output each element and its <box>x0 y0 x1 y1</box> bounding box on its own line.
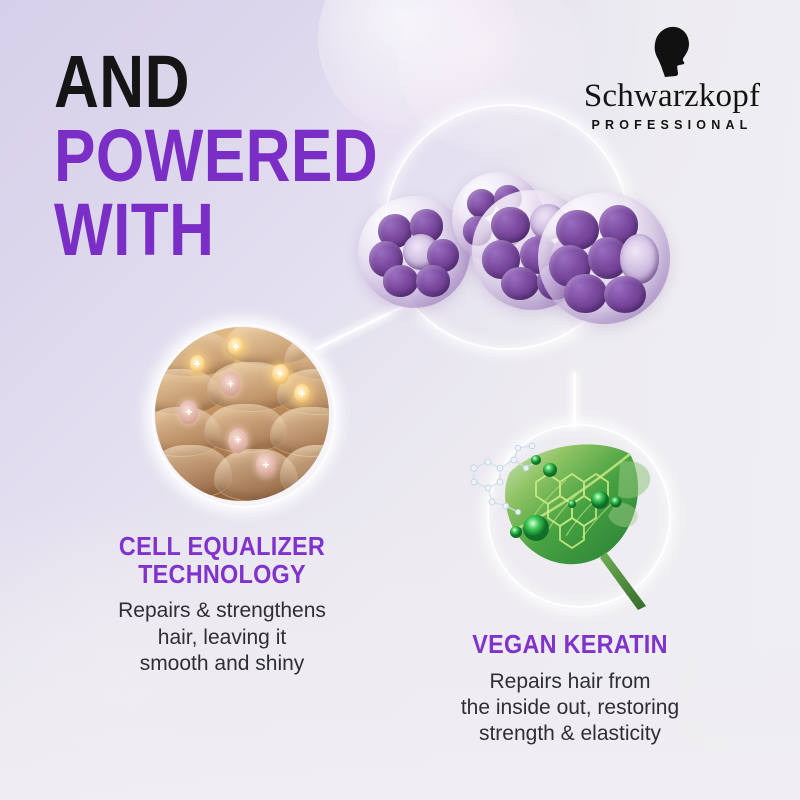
plus-marker-icon: + <box>190 355 205 373</box>
headline: AND POWERED WITH <box>54 48 384 270</box>
benefit-body: Repairs & strengthens hair, leaving it s… <box>62 598 382 677</box>
benefit-body-line-3: smooth and shiny <box>62 651 382 677</box>
benefit-title: VEGAN KERATIN <box>417 631 723 659</box>
benefit-title: CELL EQUALIZER TECHNOLOGY <box>78 533 366 588</box>
brand-logo: Schwarzkopf PROFESSIONAL <box>572 26 772 132</box>
headline-line-1: AND <box>54 48 331 116</box>
headline-line-3: WITH <box>54 196 331 264</box>
headline-line-2: POWERED <box>54 122 331 190</box>
benefit-body: Repairs hair from the inside out, restor… <box>400 669 740 748</box>
benefit-body-line-3: strength & elasticity <box>400 721 740 747</box>
benefit-cell-equalizer: CELL EQUALIZER TECHNOLOGY Repairs & stre… <box>62 533 382 677</box>
brand-tagline: PROFESSIONAL <box>572 119 772 132</box>
benefit-body-line-1: Repairs hair from <box>400 669 740 695</box>
benefit-vegan-keratin: VEGAN KERATIN Repairs hair from the insi… <box>400 631 740 748</box>
plus-marker-icon: + <box>228 428 248 453</box>
green-leaf-molecule-icon <box>470 410 680 620</box>
cell-sphere <box>538 192 670 324</box>
brand-name: Schwarzkopf <box>572 80 772 113</box>
gold-hair-cuticle-icon: + + + + + + + + <box>155 327 329 501</box>
benefit-title-line-2: TECHNOLOGY <box>78 561 366 589</box>
benefit-title-line-1: CELL EQUALIZER <box>78 533 366 561</box>
head-silhouette-icon <box>649 26 695 78</box>
purple-cell-cluster-icon <box>352 168 642 323</box>
benefit-body-line-2: the inside out, restoring <box>400 695 740 721</box>
plus-marker-icon: + <box>272 364 289 384</box>
plus-marker-icon: + <box>256 452 276 477</box>
benefit-body-line-2: hair, leaving it <box>62 625 382 651</box>
benefit-body-line-1: Repairs & strengthens <box>62 598 382 624</box>
promo-graphic: + + + + + + + + <box>0 0 800 800</box>
